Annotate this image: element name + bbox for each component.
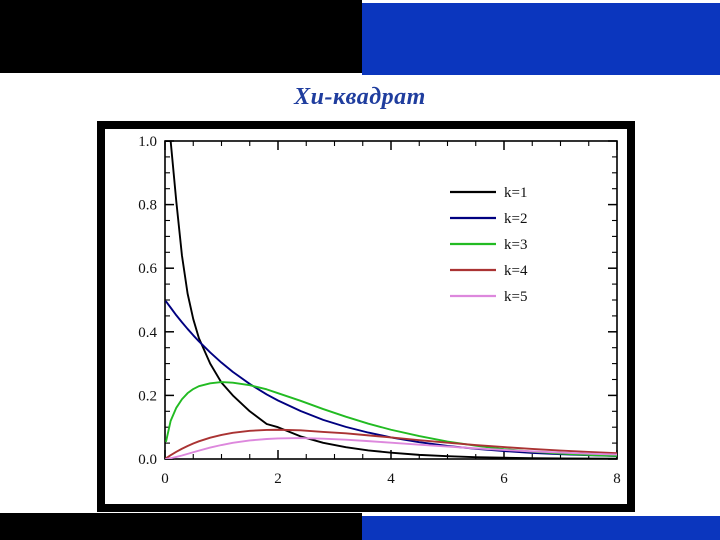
legend-label-k=3: k=3 xyxy=(504,237,527,253)
header-black-band xyxy=(0,0,362,73)
svg-text:2: 2 xyxy=(274,471,282,487)
legend-label-k=4: k=4 xyxy=(504,263,528,279)
svg-text:0.4: 0.4 xyxy=(138,325,157,341)
svg-text:0.2: 0.2 xyxy=(138,388,157,404)
footer-black-band xyxy=(0,513,362,540)
footer-blue-band xyxy=(362,516,720,540)
svg-text:0.8: 0.8 xyxy=(138,198,157,214)
chart-frame: 024680.00.20.40.60.81.0k=1k=2k=3k=4k=5 xyxy=(97,121,635,512)
svg-text:4: 4 xyxy=(387,471,395,487)
svg-text:1.0: 1.0 xyxy=(138,134,157,150)
chi-square-line-chart: 024680.00.20.40.60.81.0k=1k=2k=3k=4k=5 xyxy=(105,129,627,504)
legend-label-k=2: k=2 xyxy=(504,211,527,227)
page-title: Хи-квадрат xyxy=(0,84,720,111)
legend-label-k=5: k=5 xyxy=(504,289,527,305)
header-blue-band xyxy=(362,3,720,75)
svg-text:0: 0 xyxy=(161,471,169,487)
svg-text:8: 8 xyxy=(613,471,621,487)
svg-text:0.0: 0.0 xyxy=(138,452,157,468)
svg-text:6: 6 xyxy=(500,471,508,487)
legend-label-k=1: k=1 xyxy=(504,185,527,201)
chart-area: 024680.00.20.40.60.81.0k=1k=2k=3k=4k=5 xyxy=(105,129,627,504)
slide: Хи-квадрат 024680.00.20.40.60.81.0k=1k=2… xyxy=(0,0,720,540)
svg-text:0.6: 0.6 xyxy=(138,261,157,277)
